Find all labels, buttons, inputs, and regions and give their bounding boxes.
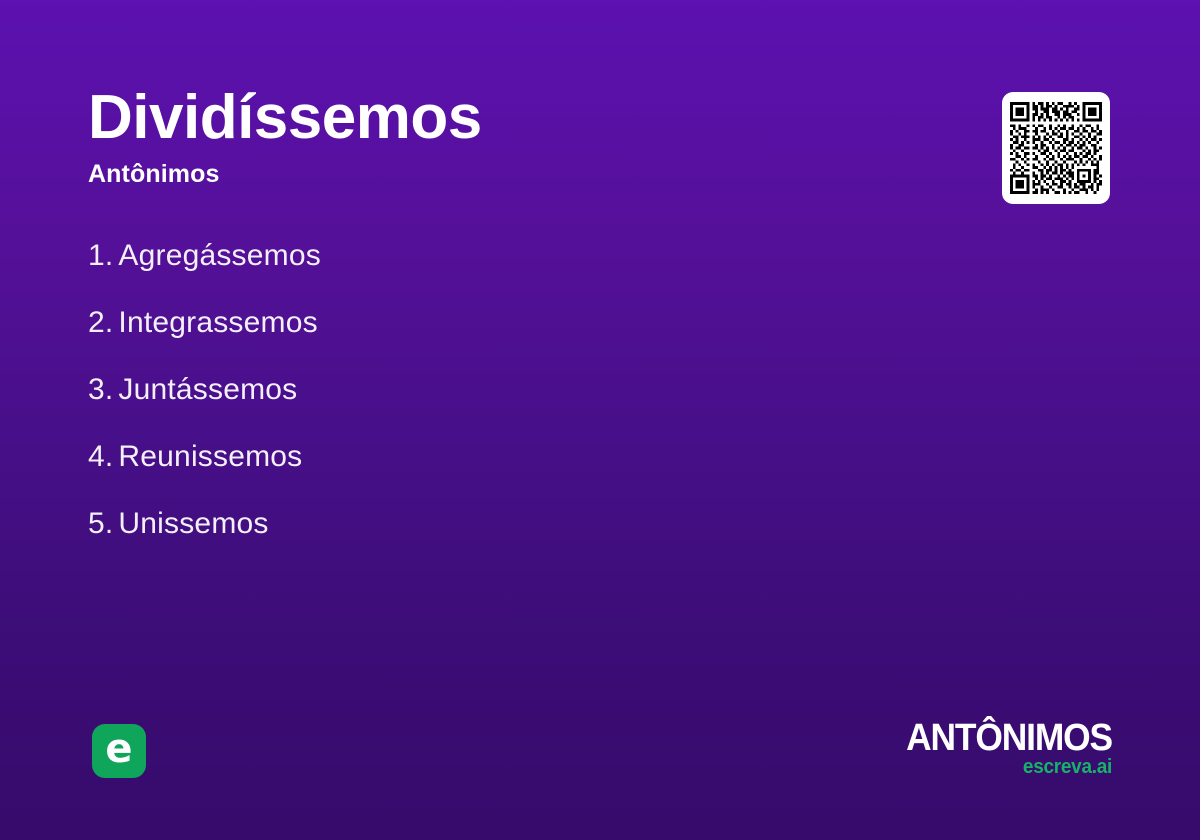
page-title: Dividíssemos	[88, 86, 948, 149]
list-item-index: 1.	[88, 239, 113, 272]
antonyms-list: 1.Agregássemos 2.Integrassemos 3.Juntáss…	[88, 238, 908, 542]
list-item: 4.Reunissemos	[88, 439, 908, 475]
antonyms-card: Dividíssemos Antônimos	[0, 0, 1200, 840]
list-item-index: 5.	[88, 507, 113, 540]
list-item-label: Unissemos	[118, 507, 268, 540]
qr-code-icon	[1010, 100, 1102, 196]
list-item-label: Reunissemos	[118, 440, 302, 473]
list-item: 1.Agregássemos	[88, 238, 908, 274]
brand-letter-e: e	[105, 729, 132, 769]
escreva-logo-badge: e	[92, 724, 146, 778]
card-header: Dividíssemos Antônimos	[88, 86, 948, 189]
brand-wordmark: ANTÔNIMOS escreva.ai	[772, 720, 1112, 777]
list-item: 3.Juntássemos	[88, 372, 908, 408]
brand-wordmark-domain: escreva.ai	[789, 757, 1112, 777]
list-item: 5.Unissemos	[88, 506, 908, 542]
list-item-label: Juntássemos	[118, 373, 297, 406]
list-item-index: 4.	[88, 440, 113, 473]
page-subtitle: Antônimos	[88, 161, 948, 189]
list-item-index: 3.	[88, 373, 113, 406]
qr-code[interactable]	[1002, 92, 1110, 204]
brand-wordmark-title: ANTÔNIMOS	[796, 720, 1112, 756]
list-item: 2.Integrassemos	[88, 305, 908, 341]
list-item-label: Agregássemos	[118, 239, 321, 272]
list-item-index: 2.	[88, 306, 113, 339]
list-item-label: Integrassemos	[118, 306, 317, 339]
